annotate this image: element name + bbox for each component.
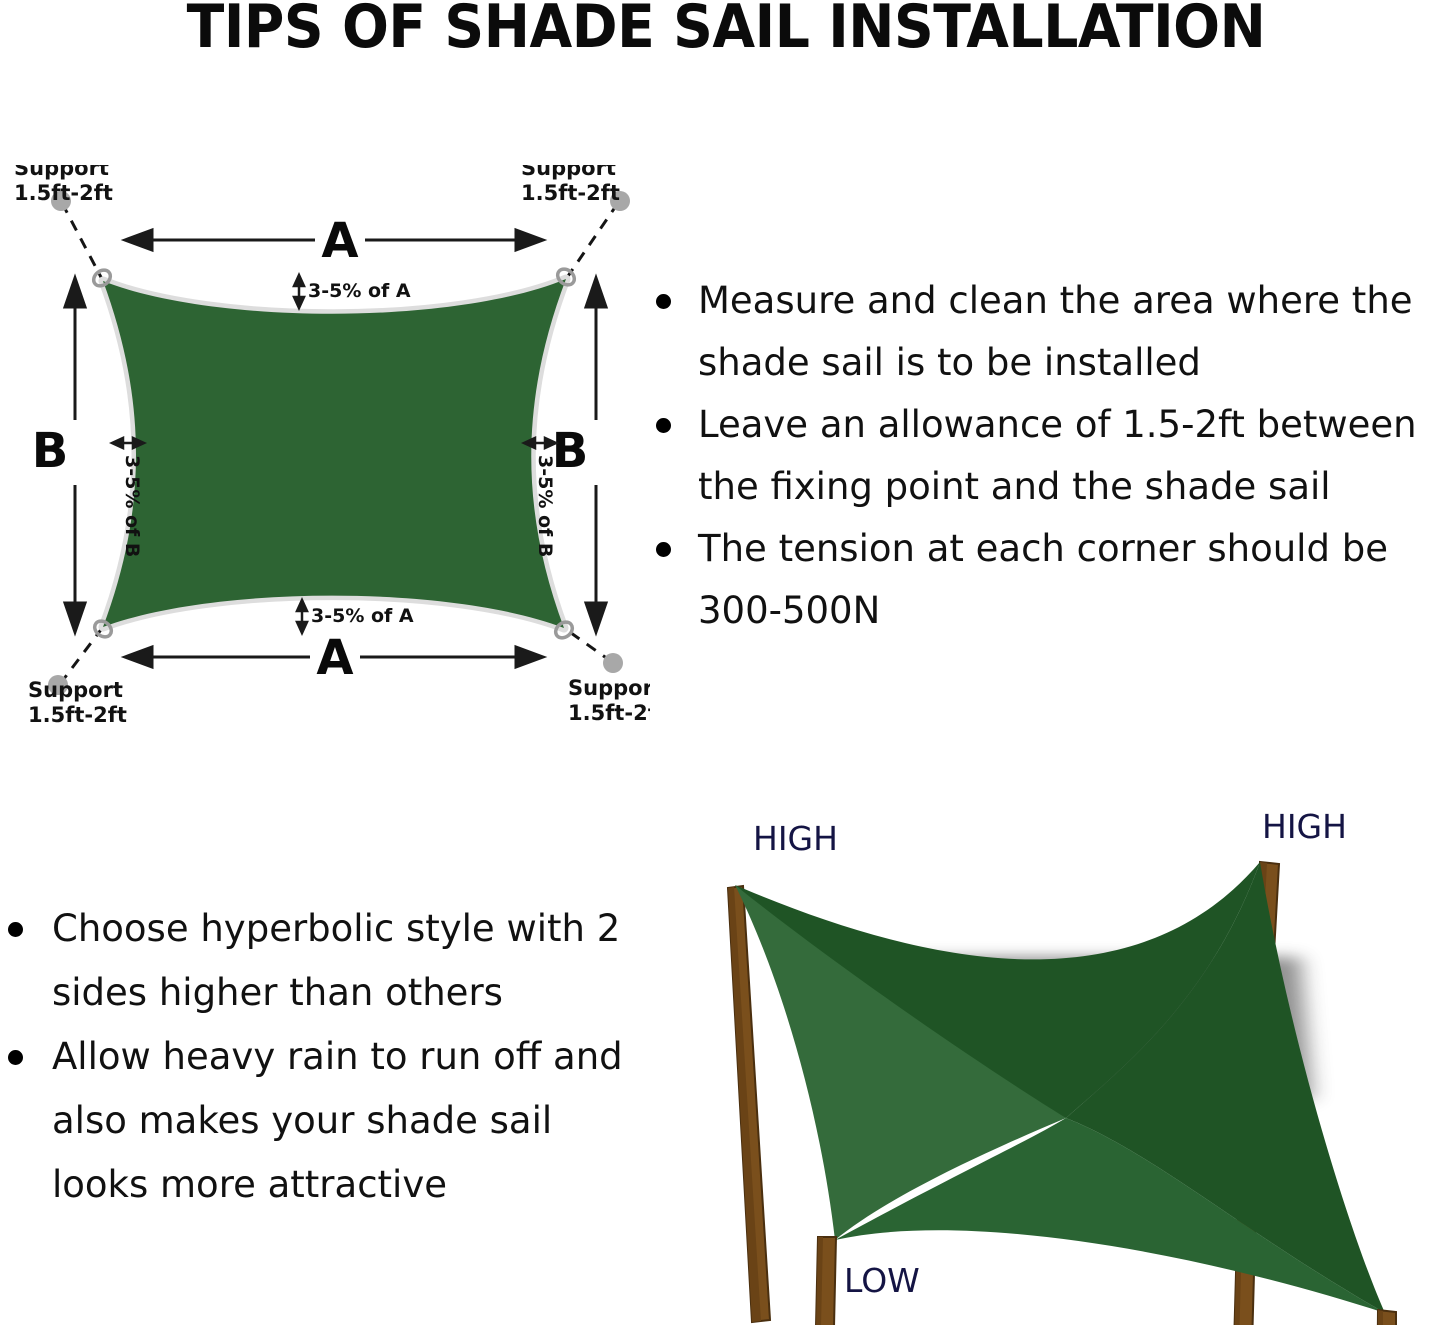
support-label-bottom-right-line2: 1.5ft-2ft (568, 701, 650, 725)
post-low-right (1376, 1310, 1396, 1325)
label-high-right: HIGH (1262, 807, 1347, 846)
rectangular-sail-diagram: A 3-5% of A A 3-5% of A (0, 165, 650, 735)
list-item: The tension at each corner should be 300… (646, 518, 1452, 642)
sag-bottom-arrow-down (297, 622, 307, 633)
dim-a-bottom-left-arrow (125, 647, 152, 667)
dim-label-b-right: B (552, 423, 589, 479)
post-high-left (728, 886, 770, 1322)
list-item: Allow heavy rain to run off and also mak… (0, 1025, 640, 1217)
dim-label-a-bottom: A (316, 630, 353, 686)
sag-left-arrow-out (112, 438, 123, 448)
support-line-bottom-left (60, 627, 103, 684)
dim-label-b-left: B (32, 423, 69, 479)
list-item: Choose hyperbolic style with 2 sides hig… (0, 897, 640, 1025)
dim-b-left-upper-arrow (65, 278, 85, 307)
list-item: Measure and clean the area where the sha… (646, 270, 1452, 394)
support-line-top-right (566, 203, 618, 279)
support-label-top-right-line2: 1.5ft-2ft (521, 181, 620, 205)
dim-a-top-left-arrow (125, 230, 152, 250)
support-label-top-left-line1: Support (14, 165, 109, 180)
sag-bottom-arrow-up (297, 600, 307, 611)
sag-bottom-label: 3-5% of A (311, 605, 414, 627)
dim-b-right-lower-arrow (586, 603, 606, 632)
support-dot-bottom-right (603, 653, 623, 673)
sag-left-label: 3-5% of B (121, 455, 143, 557)
page-title: TIPS OF SHADE SAIL INSTALLATION (58, 0, 1394, 58)
infographic-page: TIPS OF SHADE SAIL INSTALLATION (0, 0, 1452, 1325)
sag-top-arrow-up (294, 275, 304, 286)
tips-list-left: Choose hyperbolic style with 2 sides hig… (0, 897, 640, 1217)
support-label-top-left-line2: 1.5ft-2ft (14, 181, 113, 205)
sag-top-arrow-down (294, 297, 304, 308)
post-low-left (814, 1237, 836, 1325)
hyperbolic-sail-diagram: HIGH HIGH LOW LOW (660, 800, 1452, 1325)
support-label-top-right-line1: Support (521, 165, 616, 180)
dim-label-a-top: A (321, 213, 358, 269)
sail-shape (103, 279, 566, 628)
label-high-left: HIGH (753, 819, 838, 858)
list-item: Leave an allowance of 1.5-2ft between th… (646, 394, 1452, 518)
dim-b-right-upper-arrow (586, 278, 606, 307)
dim-a-top-right-arrow (516, 230, 543, 250)
sag-right-label: 3-5% of B (534, 455, 556, 557)
dim-b-left-lower-arrow (65, 603, 85, 632)
dim-a-bottom-right-arrow (516, 647, 543, 667)
support-label-bottom-right-line1: Support (568, 676, 650, 700)
label-low-left: LOW (844, 1261, 920, 1300)
support-label-bottom-left-line1: Support (28, 678, 123, 702)
tips-list-right: Measure and clean the area where the sha… (646, 270, 1452, 642)
sag-top-label: 3-5% of A (308, 280, 411, 302)
support-line-top-left (62, 203, 103, 281)
support-label-bottom-left-line2: 1.5ft-2ft (28, 703, 127, 727)
